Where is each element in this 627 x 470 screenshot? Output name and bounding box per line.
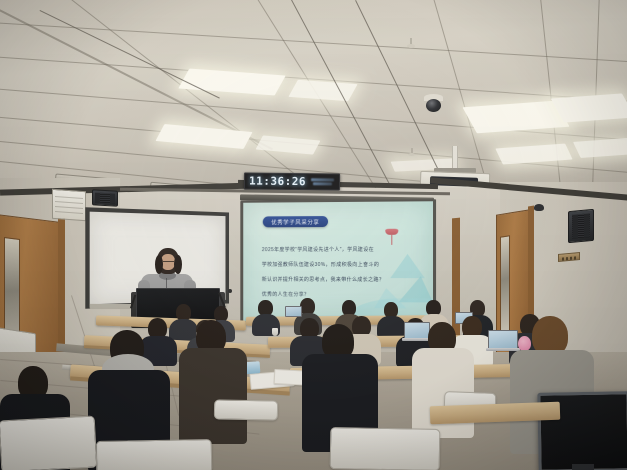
slide-decoration-triangle (390, 254, 425, 278)
chair-back[interactable] (0, 416, 97, 470)
slide-body-line: 新认识并提升相关的思考点，我来带什么成长之路？ (262, 276, 384, 283)
chair-back[interactable] (330, 427, 441, 470)
laptop-base (486, 348, 520, 351)
student-torso (179, 348, 247, 444)
door-window-right (500, 235, 510, 333)
clock-time-display: 11:36:26 (245, 175, 306, 189)
ceiling-light-panel (155, 124, 252, 149)
ceiling-light-panel (288, 80, 357, 101)
led-wall-clock: 11:36:26 (244, 172, 340, 190)
microphone-head (228, 289, 232, 293)
drink-cup (272, 328, 278, 336)
dome-security-camera (426, 99, 441, 112)
plush-toy (518, 336, 531, 351)
suspended-ceiling (0, 0, 627, 200)
student-torso (377, 316, 406, 338)
chair-back[interactable] (214, 399, 278, 420)
ceiling-light-panel (495, 144, 572, 165)
ceiling-light-panel (178, 69, 285, 96)
laptop-screen (488, 330, 518, 349)
slide-title-banner: 优秀学子风采分享 (263, 216, 328, 227)
fire-sprinkler-head (408, 153, 415, 156)
presenter-hair (174, 255, 182, 274)
wall-control-panel[interactable] (52, 189, 86, 221)
presenter-hair (155, 255, 163, 274)
slide-body-line: 2025年度学校“学风建设先进个人”，学风建设在 (262, 246, 374, 253)
ceiling-light-panel (551, 93, 627, 122)
wall-speaker-right (568, 209, 594, 243)
clock-aux-display (306, 178, 339, 185)
slide-title-text: 优秀学子风采分享 (271, 218, 319, 226)
classroom-photo: 11:36:26 优秀学子风采分享 2025年度学校“学风建设先进个人”，学风建… (0, 0, 627, 470)
slide-umbrella-stick (391, 234, 392, 245)
slide-body-line: 优秀的人生在分享？ (262, 291, 309, 298)
ceiling-speaker-right (534, 204, 544, 211)
monitor-stand (572, 464, 594, 470)
projector-mount-pole (452, 146, 458, 170)
presenter-glasses (162, 261, 175, 263)
fire-sprinkler-head (407, 44, 415, 48)
wall-speaker-left (92, 189, 118, 206)
laptop-screen (404, 322, 430, 339)
slide-body-line: 学校加强教师队伍建设30%，形成积极向上奋斗的 (262, 261, 379, 268)
ceiling-light-panel (573, 138, 627, 158)
chair-back[interactable] (96, 439, 213, 470)
laptop-screen (285, 306, 302, 317)
